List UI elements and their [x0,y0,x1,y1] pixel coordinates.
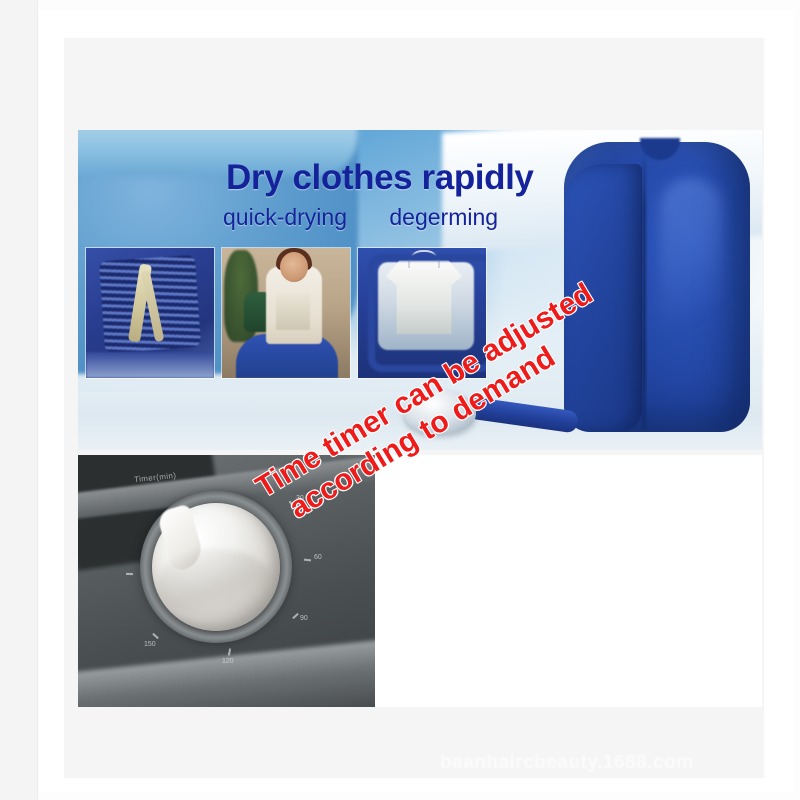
dial-tick-label-150: 150 [144,641,156,648]
hero-subtitle-degerming: degerming [389,204,498,231]
product-dryer-bag [556,142,752,442]
dial-tick-label-60: 60 [314,554,322,561]
hose-connector [404,390,476,434]
timer-dial[interactable] [152,503,280,631]
laundry-item [276,294,310,330]
dial-tick-mark-90 [292,613,299,619]
bag-seam [642,150,646,430]
bag-rim [368,254,486,372]
thumbnail-vent-grille [86,248,214,378]
dial-tick-label-90: 90 [300,615,308,622]
product-listing-image: Dry clothes rapidly quick-drying degermi… [0,0,800,800]
dial-tick-mark-60 [304,559,311,562]
appliance-surface [78,636,375,707]
hero-banner: Dry clothes rapidly quick-drying degermi… [78,130,762,450]
dial-tick-mark-zero [126,573,133,575]
timer-photo: Timer(min) 30 60 90 120 150 [78,455,375,707]
dial-tick-mark-30 [289,501,295,508]
site-watermark: baanhaircbeauty.1688.com [440,752,693,774]
page-left-margin [0,0,38,800]
dial-tick-label-30: 30 [296,495,304,502]
caption-white-area [375,455,762,707]
woman-head [280,252,308,282]
thumbnail-woman-loading [222,248,350,378]
hero-subtitle-row: quick-drying degerming [223,204,498,231]
dial-tick-mark-150 [152,633,159,639]
bag-left-panel [564,164,642,432]
hero-subtitle-quick-drying: quick-drying [223,204,347,231]
thumbnail-clothes-inside [358,248,486,378]
dial-tick-label-120: 120 [222,658,234,665]
hero-title: Dry clothes rapidly [226,158,534,198]
bag-highlight [660,178,722,378]
thumbnail-strip [86,248,486,378]
vent-base [86,352,214,378]
dial-shading [158,549,274,619]
